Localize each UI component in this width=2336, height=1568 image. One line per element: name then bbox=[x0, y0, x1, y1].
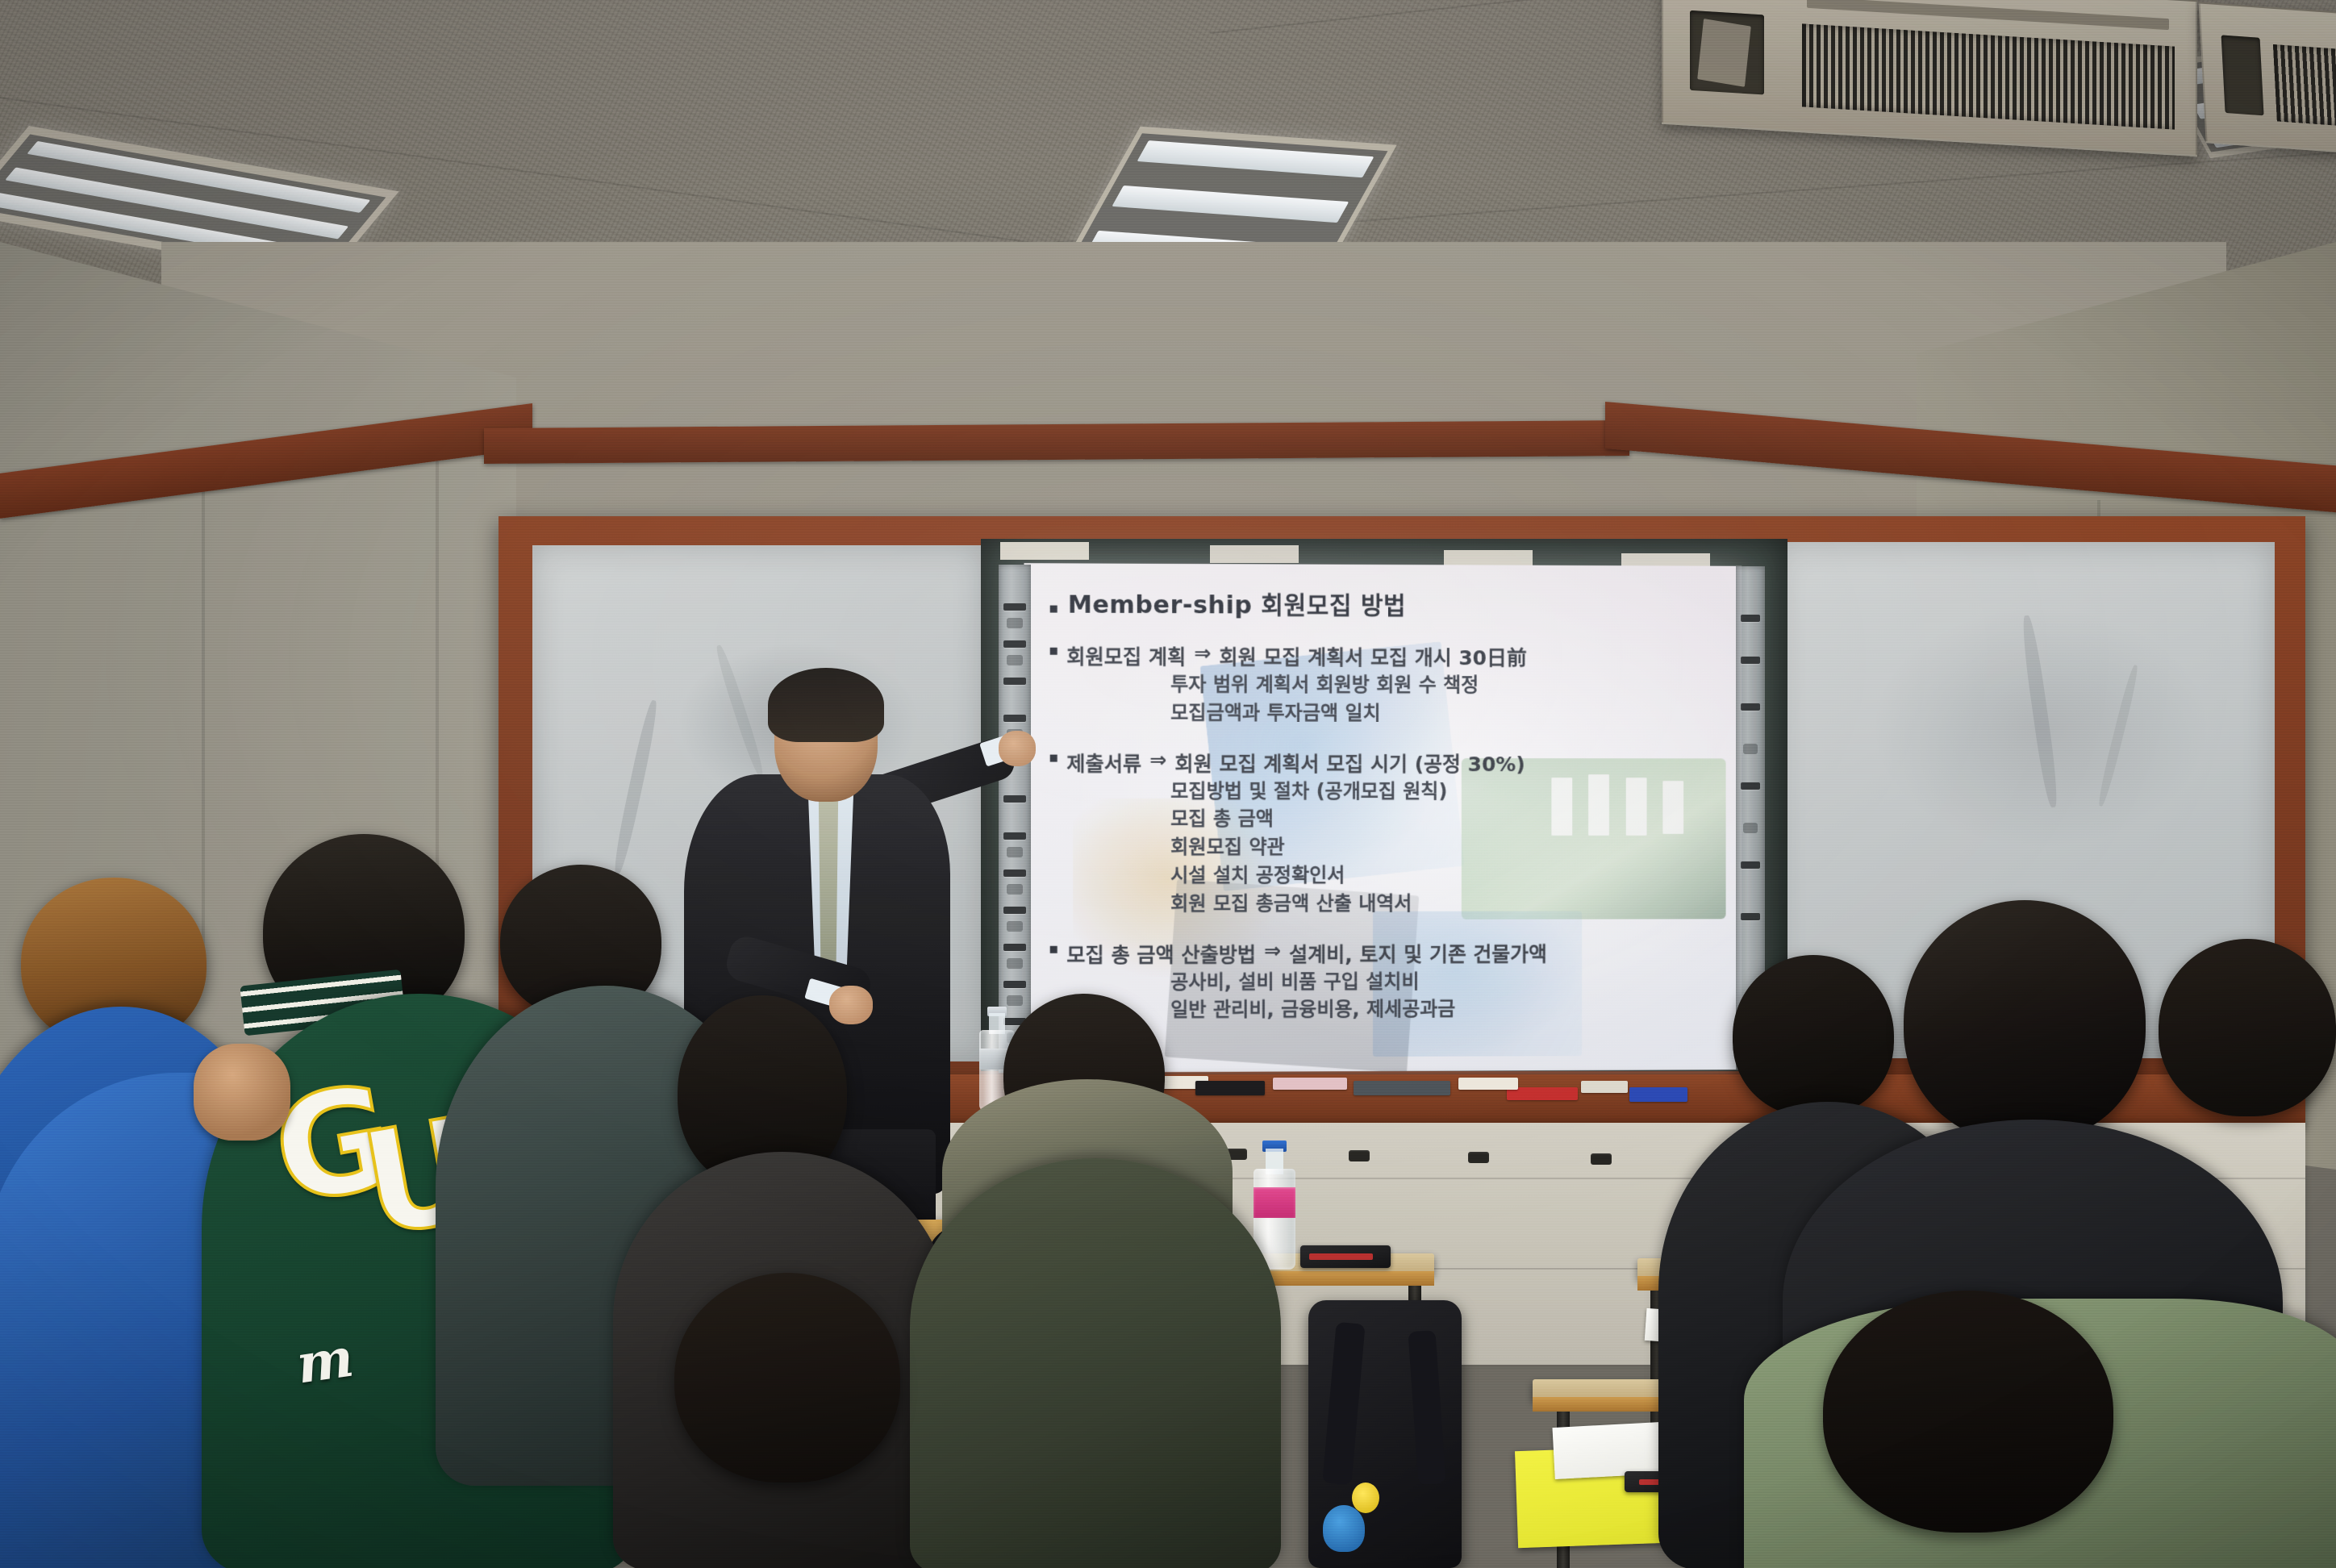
smartboard-right-button-6[interactable] bbox=[1741, 913, 1760, 920]
slide-bullet-2: ▪ 제출서류 ⇒ 회원 모집 계획서 모집 시기 (공정 30%) bbox=[1049, 748, 1718, 778]
marker-white3[interactable] bbox=[1581, 1081, 1628, 1093]
backpack-charm bbox=[1323, 1505, 1365, 1552]
wall-seam bbox=[202, 452, 205, 968]
backpack-charm-yellow bbox=[1352, 1483, 1379, 1513]
smartboard-right-button-2[interactable] bbox=[1741, 657, 1760, 664]
smartboard-right-button-3[interactable] bbox=[1741, 703, 1760, 711]
cabinet-knob[interactable] bbox=[1349, 1150, 1370, 1161]
smartboard-icon-8[interactable] bbox=[1007, 884, 1024, 895]
bullet-dot-icon: ▪ bbox=[1049, 641, 1058, 670]
smartboard-icon-7[interactable] bbox=[1007, 847, 1024, 857]
smartboard-button-6[interactable] bbox=[1003, 795, 1025, 803]
student-torso-olive-parka bbox=[910, 1158, 1281, 1568]
student-head-right-3 bbox=[2159, 939, 2336, 1116]
presenter-hand bbox=[999, 731, 1036, 766]
slide-bullet-2-line-2: 모집방법 및 절차 (공개모집 원칙) bbox=[1170, 777, 1718, 805]
smartboard-right-icon-4[interactable] bbox=[1743, 823, 1758, 833]
smartboard-button-3[interactable] bbox=[1003, 678, 1025, 685]
bottle-label bbox=[1254, 1187, 1295, 1218]
smartboard-right-button-5[interactable] bbox=[1741, 861, 1760, 869]
smartboard-right-button-1[interactable] bbox=[1741, 615, 1760, 622]
arrow-icon: ⇒ bbox=[1149, 748, 1166, 777]
eraser-gray[interactable] bbox=[1354, 1081, 1450, 1095]
smartboard-button-4[interactable] bbox=[1003, 715, 1025, 722]
smartboard-icon-1[interactable] bbox=[1007, 618, 1024, 628]
ceiling-air-conditioner-right bbox=[2199, 2, 2336, 154]
smartboard-icon-11[interactable] bbox=[1007, 995, 1024, 1006]
board-clip-strip bbox=[1210, 545, 1299, 563]
slide-bullet-1: ▪ 회원모집 계획 ⇒ 회원 모집 계획서 모집 개시 30日前 bbox=[1049, 641, 1718, 672]
smartboard-icon-10[interactable] bbox=[1007, 958, 1024, 969]
cabinet-knob[interactable] bbox=[1468, 1152, 1489, 1163]
slide-bullet-2-line-3: 모집 총 금액 bbox=[1170, 805, 1718, 833]
arrow-icon: ⇒ bbox=[1194, 641, 1211, 670]
slide-title: ▪ Member-ship 회원모집 방법 bbox=[1049, 584, 1718, 622]
marker-pink[interactable] bbox=[1273, 1078, 1347, 1090]
presenter-hair bbox=[768, 668, 884, 742]
marker-white2[interactable] bbox=[1458, 1078, 1518, 1090]
smartboard-right-button-4[interactable] bbox=[1741, 782, 1760, 790]
board-clip-strip bbox=[1000, 542, 1089, 560]
smartboard-icon-2[interactable] bbox=[1007, 655, 1024, 665]
marker-blue[interactable] bbox=[1629, 1087, 1687, 1102]
bullet-dot-icon: ▪ bbox=[1049, 939, 1058, 968]
slide-bullet-2-line-6: 회원 모집 총금액 산출 내역서 bbox=[1170, 889, 1718, 918]
student-head-lower-center bbox=[674, 1273, 900, 1483]
smartboard-button-7[interactable] bbox=[1003, 832, 1025, 840]
presenter-hand-lower bbox=[829, 986, 873, 1024]
slide-bullet-2-line-5: 시설 설치 공정확인서 bbox=[1170, 861, 1718, 890]
arrow-icon: ⇒ bbox=[1264, 939, 1281, 968]
slide-bullet-2-line-4: 회원모집 약관 bbox=[1170, 833, 1718, 861]
slide-bullet-3: ▪ 모집 총 금액 산출방법 ⇒ 설계비, 토지 및 기존 건물가액 bbox=[1049, 938, 1718, 969]
smartboard-button-1[interactable] bbox=[1003, 603, 1025, 611]
smartboard-button-11[interactable] bbox=[1003, 981, 1025, 988]
slide-bullet-1-line-3: 모집금액과 투자금액 일치 bbox=[1170, 699, 1718, 728]
slide-bullet-3-line-3: 일반 관리비, 금융비용, 제세공과금 bbox=[1170, 995, 1718, 1024]
eraser-black[interactable] bbox=[1195, 1081, 1265, 1095]
slide-content: ▪ Member-ship 회원모집 방법 ▪ 회원모집 계획 ⇒ 회원 모집 … bbox=[1024, 563, 1742, 1073]
cabinet-knob[interactable] bbox=[1591, 1153, 1612, 1165]
slide-title-bullet-icon: ▪ bbox=[1049, 600, 1059, 617]
classroom-photo-scene: ▪ Member-ship 회원모집 방법 ▪ 회원모집 계획 ⇒ 회원 모집 … bbox=[0, 0, 2336, 1568]
smartboard-right-icon-3[interactable] bbox=[1743, 744, 1758, 754]
slide-bullet-3-line-2: 공사비, 설비 비품 구입 설치비 bbox=[1170, 967, 1718, 997]
student-head-foreground-right bbox=[1823, 1291, 2113, 1533]
projected-slide: ▪ Member-ship 회원모집 방법 ▪ 회원모집 계획 ⇒ 회원 모집 … bbox=[1024, 563, 1742, 1073]
student-head-right-2 bbox=[1904, 900, 2146, 1142]
smartboard-button-8[interactable] bbox=[1003, 869, 1025, 877]
smartboard-button-10[interactable] bbox=[1003, 944, 1025, 951]
slide-bullet-1-line-2: 투자 범위 계획서 회원방 회원 수 책정 bbox=[1170, 670, 1718, 699]
smartboard-button-9[interactable] bbox=[1003, 907, 1025, 914]
pencil-case-center[interactable] bbox=[1300, 1245, 1391, 1268]
smartboard-icon-9[interactable] bbox=[1007, 921, 1024, 932]
student-head-right-1 bbox=[1733, 955, 1894, 1116]
smartboard-bezel-toolbar[interactable] bbox=[999, 565, 1031, 1073]
bullet-dot-icon: ▪ bbox=[1049, 748, 1058, 777]
smartboard-button-2[interactable] bbox=[1003, 640, 1025, 648]
varsity-script-text: m bbox=[293, 1326, 357, 1396]
student-fist bbox=[194, 1044, 290, 1141]
